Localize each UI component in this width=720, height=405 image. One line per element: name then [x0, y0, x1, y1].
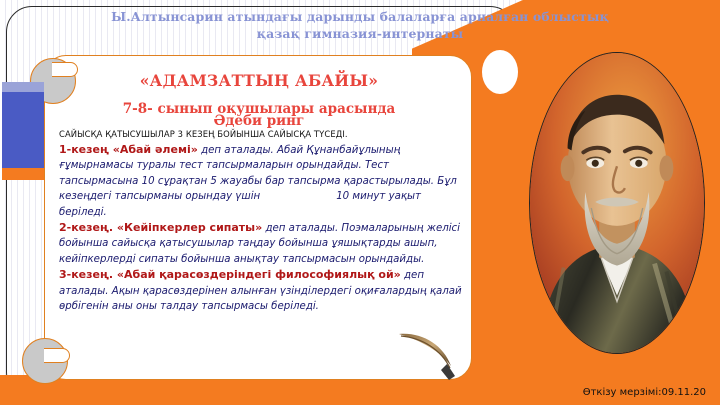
- stage-1-heading: 1-кезең «Абай әлемі»: [59, 143, 198, 156]
- book-bottom-edge: [2, 168, 44, 180]
- stage-3-heading: 3-кезең. «Абай қарасөздеріндегі философи…: [59, 268, 401, 281]
- scroll-roll-top-notch: [52, 62, 78, 77]
- blue-book-graphic: [2, 82, 44, 180]
- stage-3-paragraph: 3-кезең. «Абай қарасөздеріндегі философи…: [59, 267, 463, 314]
- scroll-roll-bottom-notch: [44, 348, 70, 363]
- slide-canvas: Ы.Алтынсарин атындағы дарынды балаларға …: [0, 0, 720, 405]
- intro-caps-line: САЙЫСҚА ҚАТЫСУШЫЛАР 3 КЕЗЕҢ БОЙЫНША САЙЫ…: [59, 128, 463, 141]
- feather-pen-icon: [395, 330, 461, 382]
- school-title-line1: Ы.Алтынсарин атындағы дарынды балаларға …: [90, 8, 630, 25]
- deadline-text: Өткізу мерзімі:09.11.20: [583, 387, 706, 398]
- book-cover: [2, 92, 44, 168]
- rules-text-block: САЙЫСҚА ҚАТЫСУШЫЛАР 3 КЕЗЕҢ БОЙЫНША САЙЫ…: [59, 128, 463, 314]
- abai-portrait-image: [530, 53, 704, 353]
- event-title: «АДАМЗАТТЫҢ АБАЙЫ»: [45, 71, 473, 90]
- stage-2-heading: 2-кезең. «Кейіпкерлер сипаты»: [59, 221, 262, 234]
- school-title-line2: қазақ гимназия-интернаты: [90, 25, 630, 42]
- stage-1-paragraph: 1-кезең «Абай әлемі» деп аталады. Абай Қ…: [59, 142, 463, 220]
- abai-portrait: [529, 52, 705, 354]
- decorative-white-blob: [482, 50, 518, 94]
- school-title: Ы.Алтынсарин атындағы дарынды балаларға …: [90, 8, 630, 42]
- stage-2-paragraph: 2-кезең. «Кейіпкерлер сипаты» деп аталад…: [59, 220, 463, 267]
- book-top-edge: [2, 82, 44, 92]
- event-overlay-label: Әдеби ринг: [45, 113, 473, 129]
